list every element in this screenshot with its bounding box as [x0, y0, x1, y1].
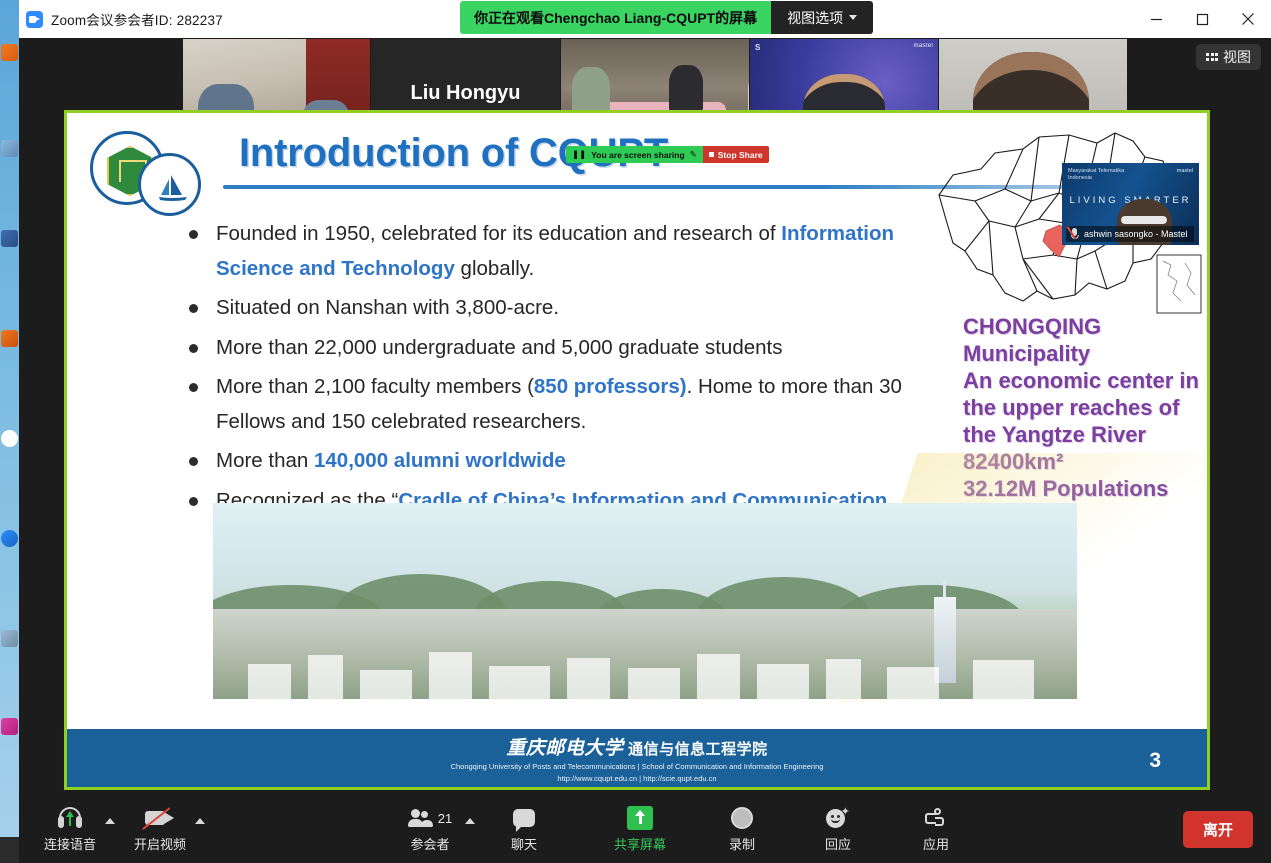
leave-meeting-button[interactable]: 离开 — [1183, 811, 1253, 848]
shared-screen-area[interactable]: Introduction of CQUPT Founded in 1950, c… — [64, 110, 1210, 790]
start-video-button[interactable]: 开启视频 — [133, 801, 187, 857]
view-options-button[interactable]: 视图选项 — [771, 1, 873, 34]
video-options-chevron[interactable] — [187, 801, 213, 857]
stop-share-label: Stop Share — [718, 150, 763, 160]
desktop-icon — [1, 140, 18, 157]
apps-button[interactable]: 应用 — [909, 801, 963, 857]
taskbar — [0, 837, 19, 863]
viewing-share-banner: 你正在观看Chengchao Liang-CQUPT的屏幕 视图选项 — [460, 1, 873, 34]
audio-options-chevron[interactable] — [97, 801, 123, 857]
bullet-icon — [189, 383, 198, 392]
list-item: More than 22,000 undergraduate and 5,000… — [189, 331, 929, 366]
annotate-icon: ✎ — [690, 149, 697, 160]
desktop-icon — [1, 430, 18, 447]
desktop-icon — [1, 330, 18, 347]
footer-english-1: Chongqing University of Posts and Teleco… — [451, 762, 824, 772]
people-icon: 21 — [408, 805, 452, 831]
watching-screen-label: 你正在观看Chengchao Liang-CQUPT的屏幕 — [460, 1, 771, 34]
participant-name: ashwin sasongko - Mastel — [1084, 229, 1188, 239]
caption-line: Municipality — [963, 340, 1210, 367]
mastel-logo: mastel — [1177, 168, 1193, 174]
sail-icon — [151, 169, 193, 205]
participant-display-name: Liu Hongyu — [411, 82, 521, 105]
title-bar-left: Zoom会议参会者ID: 282237 — [19, 9, 223, 29]
footer-chinese: 重庆邮电大学 通信与信息工程学院 — [451, 733, 824, 760]
participants-count: 21 — [438, 811, 452, 826]
chat-icon — [513, 805, 535, 831]
caption-line: the Yangtze River — [963, 421, 1210, 448]
footer-english-2: http://www.cqupt.edu.cn | http://scie.qu… — [451, 774, 824, 784]
screen-root: Zoom会议参会者ID: 282237 你正在观看Chengchao Liang… — [0, 0, 1271, 863]
share-screen-button[interactable]: 共享屏幕 — [613, 801, 667, 857]
list-item: Situated on Nanshan with 3,800-acre. — [189, 291, 929, 326]
desktop-icon — [1, 530, 18, 547]
participants-button[interactable]: 21 参会者 — [403, 801, 457, 857]
caption-line: CHONGQING — [963, 313, 1210, 340]
desktop-icon — [1, 230, 18, 247]
reactions-button[interactable]: ✦ 回应 — [811, 801, 865, 857]
chevron-down-icon — [849, 15, 857, 20]
bullet-text: More than 2,100 faculty members (850 pro… — [216, 370, 929, 439]
bullet-text: Situated on Nanshan with 3,800-acre. — [216, 291, 559, 326]
bullet-icon — [189, 304, 198, 313]
record-label: 录制 — [729, 834, 755, 853]
virtual-bg-logo: S — [755, 43, 760, 52]
view-options-label: 视图选项 — [787, 8, 843, 28]
grid-icon — [1206, 53, 1218, 61]
view-button-label: 视图 — [1223, 47, 1251, 67]
stop-share-button[interactable]: Stop Share — [703, 146, 769, 163]
virtual-bg-corp: Masyarakat Telematika Indonesia — [1068, 168, 1124, 182]
record-button[interactable]: 录制 — [715, 801, 769, 857]
sharing-label: You are screen sharing — [591, 150, 684, 160]
camera-off-icon — [145, 805, 175, 831]
share-screen-label: 共享屏幕 — [614, 834, 666, 853]
participants-options-chevron[interactable] — [457, 801, 483, 857]
desktop-icon — [1, 630, 18, 647]
desktop-icon — [1, 44, 18, 61]
chat-button[interactable]: 聊天 — [497, 801, 551, 857]
bullet-icon — [189, 344, 198, 353]
cqupt-logo — [90, 129, 215, 221]
presentation-slide: Introduction of CQUPT Founded in 1950, c… — [67, 113, 1207, 787]
department-name: 通信与信息工程学院 — [628, 741, 768, 758]
stop-icon — [709, 152, 714, 157]
screen-sharing-status: ❚❚ You are screen sharing ✎ — [566, 146, 703, 163]
share-screen-icon — [627, 805, 653, 831]
bullet-text: More than 22,000 undergraduate and 5,000… — [216, 331, 782, 366]
slide-page-number: 3 — [1149, 749, 1161, 773]
close-button[interactable] — [1225, 0, 1271, 38]
window-title: Zoom会议参会者ID: 282237 — [51, 9, 223, 29]
participants-label: 参会者 — [410, 834, 449, 853]
start-video-label: 开启视频 — [134, 834, 186, 853]
microphone-muted-icon — [1069, 227, 1080, 240]
bullet-icon — [189, 230, 198, 239]
desktop-background — [0, 0, 19, 863]
join-audio-button[interactable]: 连接语音 — [43, 801, 97, 857]
minimize-button[interactable] — [1133, 0, 1179, 38]
apps-label: 应用 — [923, 834, 949, 853]
screen-share-toolbar: ❚❚ You are screen sharing ✎ Stop Share — [566, 146, 769, 163]
chat-label: 聊天 — [511, 834, 537, 853]
zoom-camera-icon — [26, 11, 43, 28]
slide-footer: 重庆邮电大学 通信与信息工程学院 Chongqing University of… — [67, 729, 1207, 787]
floating-participant-video[interactable]: Masyarakat Telematika Indonesia mastel L… — [1062, 163, 1199, 245]
headset-icon — [57, 805, 83, 831]
participant-name-badge: ashwin sasongko - Mastel — [1066, 226, 1194, 242]
view-button[interactable]: 视图 — [1196, 44, 1261, 70]
list-item: More than 140,000 alumni worldwide — [189, 444, 929, 479]
mastel-logo: mastel — [914, 43, 933, 49]
maximize-button[interactable] — [1179, 0, 1225, 38]
pause-icon: ❚❚ — [572, 149, 586, 160]
reactions-label: 回应 — [825, 834, 851, 853]
desktop-icon — [1, 718, 18, 735]
caption-line: the upper reaches of — [963, 394, 1210, 421]
join-audio-label: 连接语音 — [44, 834, 96, 853]
meeting-toolbar: 连接语音 开启视频 21 参会者 聊天 — [19, 795, 1271, 863]
bullet-text: More than 140,000 alumni worldwide — [216, 444, 566, 479]
bullet-icon — [189, 457, 198, 466]
campus-photo — [213, 503, 1077, 699]
caption-line: An economic center in — [963, 367, 1210, 394]
bullet-icon — [189, 497, 198, 506]
bullet-text: Founded in 1950, celebrated for its educ… — [216, 217, 929, 286]
university-brush-name: 重庆邮电大学 — [506, 738, 623, 759]
zoom-meeting-window: Zoom会议参会者ID: 282237 你正在观看Chengchao Liang… — [19, 0, 1271, 863]
reaction-icon: ✦ — [826, 805, 850, 831]
list-item: More than 2,100 faculty members (850 pro… — [189, 370, 929, 439]
list-item: Founded in 1950, celebrated for its educ… — [189, 217, 929, 286]
apps-icon — [925, 805, 947, 831]
record-icon — [731, 805, 753, 831]
